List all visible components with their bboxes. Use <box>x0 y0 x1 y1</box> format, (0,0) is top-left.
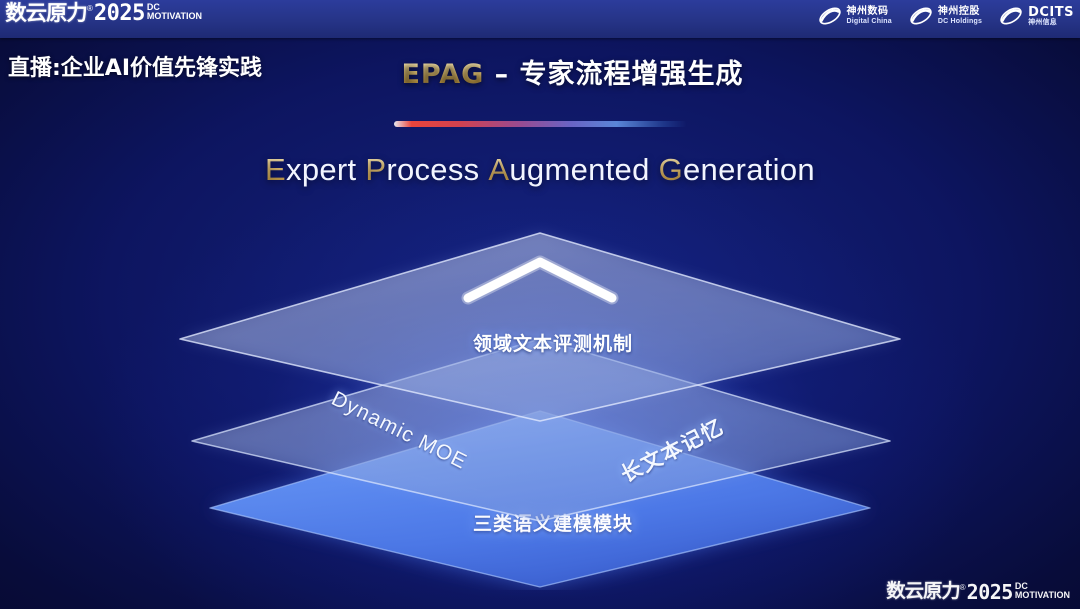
partner-dc-holdings: 神州控股 DC Holdings <box>908 3 982 29</box>
header-bar: 数云原力 ® 2025 DC MOTIVATION 神州数码 Digital C… <box>0 0 1080 38</box>
top-layer-label: 领域文本评测机制 <box>100 329 980 356</box>
top-layer[interactable] <box>100 215 980 590</box>
subtitle-rest-generation: eneration <box>683 152 815 187</box>
title-divider <box>394 121 687 127</box>
footer-brand-logo: 数云原力 ® 2025 DC MOTIVATION <box>887 582 1070 602</box>
subtitle-rest-expert: xpert <box>286 152 356 187</box>
partner-name-en: 神州信息 <box>1028 19 1074 26</box>
subtitle-cap-a: A <box>488 152 509 187</box>
brand-logo-cn: 数云原力 <box>5 3 87 24</box>
subtitle-cap-p: P <box>365 152 386 187</box>
brand-logo-dc-line2: MOTIVATION <box>147 12 202 21</box>
brand-logo-year: 2025 <box>94 3 145 25</box>
swirl-logo-icon <box>908 3 934 29</box>
footer-brand-cn: 数云原力 <box>886 582 959 601</box>
partner-name-en: Digital China <box>847 18 892 25</box>
subtitle-rest-augmented: ugmented <box>509 152 649 187</box>
brand-logo: 数云原力 ® 2025 DC MOTIVATION <box>6 3 202 25</box>
partner-logo-group: 神州数码 Digital China 神州控股 DC Holdings <box>817 3 1075 29</box>
partner-name-en: DC Holdings <box>938 18 982 25</box>
partner-text: DCITS 神州信息 <box>1028 6 1074 27</box>
page-title: EPAG – 专家流程增强生成 <box>0 52 1080 91</box>
partner-name-cn: 神州数码 <box>847 7 892 18</box>
slide-canvas: 数云原力 ® 2025 DC MOTIVATION 神州数码 Digital C… <box>0 0 1080 609</box>
brand-logo-dc: DC MOTIVATION <box>147 3 202 20</box>
subtitle-rest-process: rocess <box>386 152 479 187</box>
swirl-logo-icon <box>998 3 1024 29</box>
footer-brand-dc-line2: MOTIVATION <box>1015 591 1070 600</box>
page-title-rest: – 专家流程增强生成 <box>484 59 743 90</box>
layered-stack-diagram: 三类语义建模模块 Dynamic MOE <box>100 215 980 590</box>
partner-text: 神州控股 DC Holdings <box>938 7 982 25</box>
subtitle-cap-g: G <box>659 152 683 187</box>
partner-name-cn: 神州控股 <box>938 7 982 18</box>
partner-text: 神州数码 Digital China <box>847 7 892 25</box>
partner-digital-china: 神州数码 Digital China <box>817 3 892 29</box>
footer-brand-year: 2025 <box>967 582 1013 602</box>
partner-dcits: DCITS 神州信息 <box>998 3 1074 29</box>
footer-brand-dc: DC MOTIVATION <box>1015 582 1070 599</box>
partner-name-cn: DCITS <box>1028 6 1074 20</box>
footer-brand-registered: ® <box>960 584 966 592</box>
english-subtitle: Expert Process Augmented Generation <box>0 152 1080 188</box>
page-title-accent: EPAG <box>401 59 484 90</box>
subtitle-cap-e: E <box>265 152 286 187</box>
swirl-logo-icon <box>817 3 843 29</box>
brand-logo-registered: ® <box>87 5 93 13</box>
subtitle-space-3 <box>650 152 659 187</box>
